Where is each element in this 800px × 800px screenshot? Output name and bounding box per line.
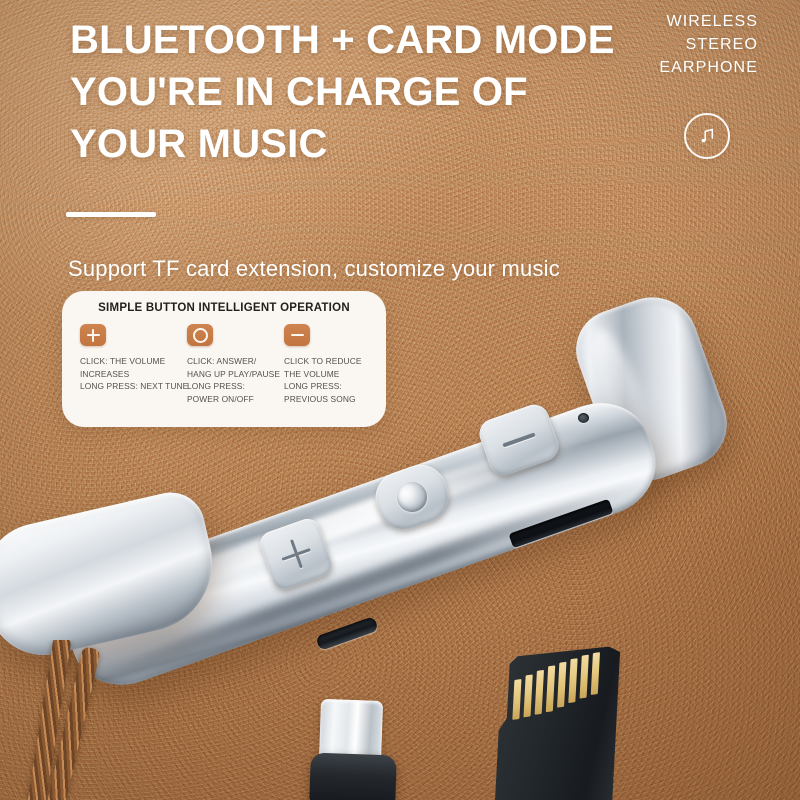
col3-line3: LONG PRESS: <box>284 380 372 393</box>
col3-line4: PREVIOUS SONG <box>284 393 372 406</box>
info-column-volume-down-text: CLICK TO REDUCE THE VOLUME LONG PRESS: P… <box>284 355 372 405</box>
info-column-volume-up: CLICK: THE VOLUME INCREASES LONG PRESS: … <box>80 324 187 405</box>
braided-cable <box>0 640 130 800</box>
minus-icon <box>291 329 304 342</box>
col1-line2: INCREASES <box>80 368 183 381</box>
corner-tag-line-2: STEREO <box>558 33 758 56</box>
col2-line1: CLICK: ANSWER/ <box>187 355 280 368</box>
operation-info-card: SIMPLE BUTTON INTELLIGENT OPERATION CLIC… <box>62 291 386 427</box>
usb-c-connector <box>306 700 398 800</box>
info-column-volume-up-text: CLICK: THE VOLUME INCREASES LONG PRESS: … <box>80 355 183 393</box>
col2-line3: LONG PRESS: <box>187 380 280 393</box>
info-column-multifunction-text: CLICK: ANSWER/ HANG UP PLAY/PAUSE LONG P… <box>187 355 280 405</box>
info-column-multifunction: CLICK: ANSWER/ HANG UP PLAY/PAUSE LONG P… <box>187 324 284 405</box>
info-card-columns: CLICK: THE VOLUME INCREASES LONG PRESS: … <box>80 324 376 405</box>
usb-c-housing <box>309 753 397 800</box>
circle-icon <box>393 478 431 516</box>
headline: BLUETOOTH + CARD MODE YOU'RE IN CHARGE O… <box>70 14 630 170</box>
minus-icon <box>502 433 535 448</box>
plus-badge <box>80 324 106 346</box>
col2-line2: HANG UP PLAY/PAUSE <box>187 368 280 381</box>
microphone-pinhole <box>578 413 589 423</box>
headline-line-1: BLUETOOTH + CARD MODE <box>70 14 630 66</box>
subtitle: Support TF card extension, customize you… <box>68 256 560 282</box>
plus-icon <box>87 329 100 342</box>
col3-line1: CLICK TO REDUCE <box>284 355 372 368</box>
corner-tag-line-1: WIRELESS <box>558 10 758 33</box>
microsd-card <box>494 644 620 800</box>
col2-line4: POWER ON/OFF <box>187 393 280 406</box>
corner-tagline: WIRELESS STEREO EARPHONE <box>558 10 758 79</box>
minus-badge <box>284 324 310 346</box>
corner-tag-line-3: EARPHONE <box>558 56 758 79</box>
product-banner: BLUETOOTH + CARD MODE YOU'RE IN CHARGE O… <box>0 0 800 800</box>
plus-icon <box>277 535 315 573</box>
headline-line-3: YOUR MUSIC <box>70 118 630 170</box>
microsd-contact-pins <box>512 652 600 726</box>
headline-line-2: YOU'RE IN CHARGE OF <box>70 66 630 118</box>
music-note-icon <box>697 126 717 146</box>
circle-icon <box>193 328 208 343</box>
col1-line3: LONG PRESS: NEXT TUNE <box>80 380 183 393</box>
circle-badge <box>187 324 213 346</box>
col1-line1: CLICK: THE VOLUME <box>80 355 183 368</box>
music-note-badge <box>684 113 730 159</box>
col3-line2: THE VOLUME <box>284 368 372 381</box>
info-column-volume-down: CLICK TO REDUCE THE VOLUME LONG PRESS: P… <box>284 324 376 405</box>
section-divider <box>66 212 156 217</box>
info-card-title: SIMPLE BUTTON INTELLIGENT OPERATION <box>62 302 386 314</box>
